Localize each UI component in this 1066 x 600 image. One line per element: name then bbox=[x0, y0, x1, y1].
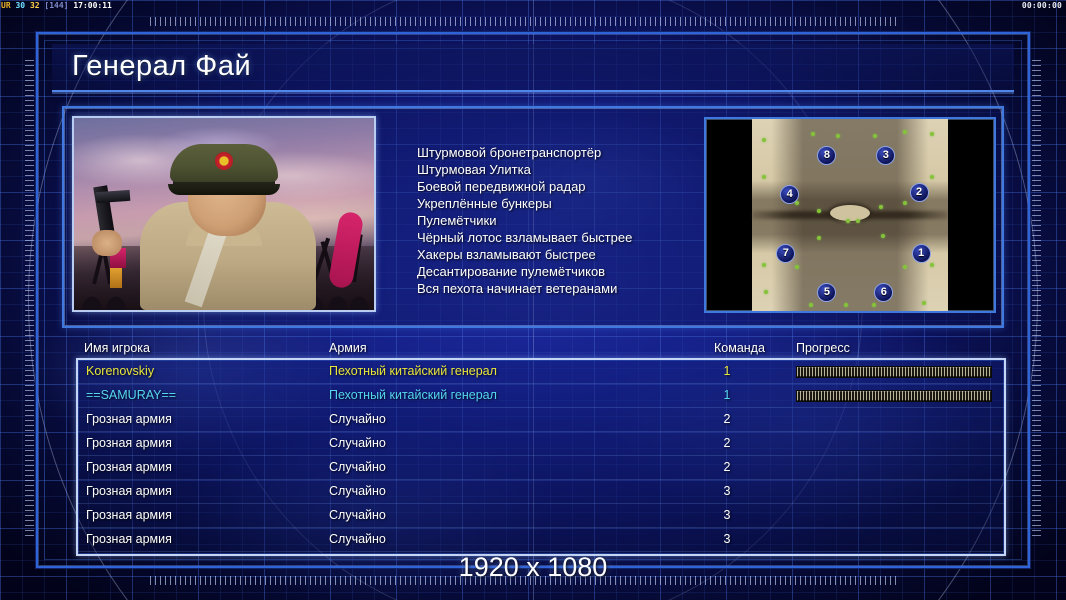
top-status-bar: UR 30 32 [144] 17:00:11 00:00:00 bbox=[0, 0, 1066, 12]
status-right-timer: 00:00:00 bbox=[1022, 0, 1062, 12]
status-bracket: [144] bbox=[44, 1, 68, 10]
ability-item: Чёрный лотос взламывает быстрее bbox=[417, 229, 697, 246]
cell-army[interactable]: Случайно bbox=[329, 412, 386, 426]
cell-progress bbox=[796, 486, 992, 498]
minimap-start-position-4[interactable]: 4 bbox=[780, 185, 799, 204]
cell-player-name[interactable]: Korenovskiy bbox=[86, 364, 154, 378]
minimap-start-position-1[interactable]: 1 bbox=[912, 244, 931, 263]
table-row[interactable]: Грозная армияСлучайно2 bbox=[78, 408, 1004, 432]
status-value-b: 32 bbox=[30, 1, 40, 10]
minimap-resource-dot bbox=[879, 205, 883, 209]
minimap-resource-dot bbox=[795, 201, 799, 205]
cell-team[interactable]: 3 bbox=[708, 508, 746, 522]
cell-army[interactable]: Случайно bbox=[329, 508, 386, 522]
portrait-hand bbox=[92, 230, 122, 256]
cell-team[interactable]: 1 bbox=[708, 364, 746, 378]
status-value-a: 30 bbox=[15, 1, 25, 10]
player-table: KorenovskiyПехотный китайский генерал1==… bbox=[76, 358, 1006, 556]
table-row[interactable]: Грозная армияСлучайно3 bbox=[78, 504, 1004, 528]
minimap-resource-dot bbox=[764, 290, 768, 294]
resolution-overlay: 1920 x 1080 bbox=[0, 552, 1066, 583]
cell-team[interactable]: 3 bbox=[708, 532, 746, 546]
status-prefix: UR bbox=[1, 1, 11, 10]
table-row[interactable]: Грозная армияСлучайно2 bbox=[78, 432, 1004, 456]
cell-army[interactable]: Случайно bbox=[329, 460, 386, 474]
cell-progress bbox=[796, 462, 992, 474]
cell-team[interactable]: 2 bbox=[708, 436, 746, 450]
cell-team[interactable]: 2 bbox=[708, 412, 746, 426]
general-portrait bbox=[72, 116, 376, 312]
cell-army[interactable]: Случайно bbox=[329, 532, 386, 546]
portrait-medal-gold bbox=[110, 268, 122, 288]
ability-item: Боевой передвижной радар bbox=[417, 178, 697, 195]
cell-player-name[interactable]: ==SAMURAY== bbox=[86, 388, 176, 402]
cell-team[interactable]: 1 bbox=[708, 388, 746, 402]
cell-progress bbox=[796, 510, 992, 522]
minimap-resource-dot bbox=[817, 209, 821, 213]
minimap-resource-dot bbox=[930, 175, 934, 179]
cell-progress bbox=[796, 390, 992, 402]
minimap-resource-dot bbox=[922, 301, 926, 305]
ruler-left bbox=[25, 60, 34, 540]
column-header-name: Имя игрока bbox=[84, 341, 150, 355]
ruler-right bbox=[1032, 60, 1041, 540]
minimap-resource-dot bbox=[795, 265, 799, 269]
ability-item: Десантирование пулемётчиков bbox=[417, 263, 697, 280]
cell-army[interactable]: Пехотный китайский генерал bbox=[329, 364, 497, 378]
minimap-resource-dot bbox=[836, 134, 840, 138]
cell-team[interactable]: 2 bbox=[708, 460, 746, 474]
cell-army[interactable]: Случайно bbox=[329, 484, 386, 498]
minimap-resource-dot bbox=[762, 263, 766, 267]
minimap-resource-dot bbox=[903, 265, 907, 269]
cell-progress bbox=[796, 438, 992, 450]
minimap-resource-dot bbox=[856, 219, 860, 223]
minimap-resource-dot bbox=[881, 234, 885, 238]
minimap-start-position-5[interactable]: 5 bbox=[817, 283, 836, 302]
table-row[interactable]: KorenovskiyПехотный китайский генерал1 bbox=[78, 360, 1004, 384]
table-row[interactable]: Грозная армияСлучайно3 bbox=[78, 528, 1004, 552]
cell-progress bbox=[796, 366, 992, 378]
cell-player-name[interactable]: Грозная армия bbox=[86, 412, 172, 426]
ability-item: Штурмовой бронетранспортёр bbox=[417, 144, 697, 161]
minimap-resource-dot bbox=[903, 201, 907, 205]
ability-item: Хакеры взламывают быстрее bbox=[417, 246, 697, 263]
page-title: Генерал Фай bbox=[72, 50, 251, 83]
minimap-resource-dot bbox=[811, 132, 815, 136]
minimap-resource-dot bbox=[872, 303, 876, 307]
game-screen: UR 30 32 [144] 17:00:11 00:00:00 Генерал… bbox=[0, 0, 1066, 600]
minimap-resource-dot bbox=[844, 303, 848, 307]
table-row[interactable]: Грозная армияСлучайно2 bbox=[78, 456, 1004, 480]
minimap-resource-dot bbox=[846, 219, 850, 223]
player-table-header: Имя игрока Армия Команда Прогресс bbox=[84, 341, 1004, 357]
table-row[interactable]: Грозная армияСлучайно3 bbox=[78, 480, 1004, 504]
progress-bar bbox=[796, 366, 992, 378]
cell-player-name[interactable]: Грозная армия bbox=[86, 508, 172, 522]
progress-bar bbox=[796, 390, 992, 402]
status-left: UR 30 32 [144] 17:00:11 bbox=[1, 0, 112, 12]
minimap-resource-dot bbox=[930, 132, 934, 136]
status-clock: 17:00:11 bbox=[73, 1, 112, 10]
cell-progress bbox=[796, 414, 992, 426]
general-ability-list: Штурмовой бронетранспортёр Штурмовая Ули… bbox=[417, 144, 697, 297]
ability-item: Укреплённые бункеры bbox=[417, 195, 697, 212]
minimap-resource-dot bbox=[903, 130, 907, 134]
cell-player-name[interactable]: Грозная армия bbox=[86, 436, 172, 450]
minimap-resource-dot bbox=[762, 138, 766, 142]
minimap-start-position-3[interactable]: 3 bbox=[876, 146, 895, 165]
cell-player-name[interactable]: Грозная армия bbox=[86, 460, 172, 474]
column-header-army: Армия bbox=[329, 341, 367, 355]
minimap-container[interactable]: 83427156 bbox=[704, 117, 996, 313]
column-header-team: Команда bbox=[714, 341, 765, 355]
minimap-start-position-2[interactable]: 2 bbox=[910, 183, 929, 202]
cell-team[interactable]: 3 bbox=[708, 484, 746, 498]
portrait-cap-emblem bbox=[215, 152, 233, 170]
ability-item: Вся пехота начинает ветеранами bbox=[417, 280, 697, 297]
table-row[interactable]: ==SAMURAY==Пехотный китайский генерал1 bbox=[78, 384, 1004, 408]
ability-item: Пулемётчики bbox=[417, 212, 697, 229]
cell-player-name[interactable]: Грозная армия bbox=[86, 532, 172, 546]
cell-army[interactable]: Пехотный китайский генерал bbox=[329, 388, 497, 402]
column-header-progress: Прогресс bbox=[796, 341, 850, 355]
minimap-resource-dot bbox=[762, 175, 766, 179]
minimap-start-position-7[interactable]: 7 bbox=[776, 244, 795, 263]
minimap-resource-dot bbox=[873, 134, 877, 138]
cell-player-name[interactable]: Грозная армия bbox=[86, 484, 172, 498]
minimap-terrain[interactable]: 83427156 bbox=[752, 119, 948, 311]
cell-army[interactable]: Случайно bbox=[329, 436, 386, 450]
minimap-start-position-8[interactable]: 8 bbox=[817, 146, 836, 165]
minimap-start-position-6[interactable]: 6 bbox=[874, 283, 893, 302]
portrait-revolver-barrel bbox=[96, 190, 131, 203]
minimap-resource-dot bbox=[817, 236, 821, 240]
minimap-resource-dot bbox=[930, 263, 934, 267]
ability-item: Штурмовая Улитка bbox=[417, 161, 697, 178]
minimap-resource-dot bbox=[809, 303, 813, 307]
ruler-top bbox=[150, 17, 896, 26]
cell-progress bbox=[796, 534, 992, 546]
